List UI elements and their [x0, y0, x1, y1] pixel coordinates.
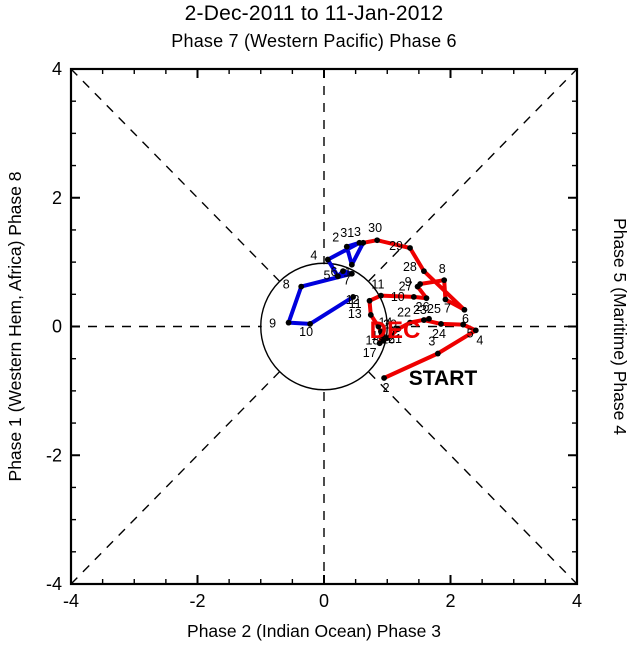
data-point — [374, 237, 380, 243]
x-tick-label: 2 — [445, 591, 455, 611]
data-point — [407, 245, 413, 251]
day-label: 7 — [444, 301, 451, 315]
data-point — [367, 298, 373, 304]
plot-canvas: -4-2024-4-2024 2345242325222120191817161… — [0, 0, 628, 653]
data-point — [286, 320, 292, 326]
day-label: 26 — [416, 300, 430, 314]
data-point — [417, 281, 423, 287]
data-point — [378, 293, 384, 299]
x-tick-label: 0 — [319, 591, 329, 611]
day-label: 3 — [354, 225, 361, 239]
day-label: 4 — [476, 333, 483, 347]
day-label: 24 — [432, 327, 446, 341]
day-label: 10 — [299, 325, 313, 339]
day-label: 8 — [439, 262, 446, 276]
data-point — [421, 317, 427, 323]
data-point — [426, 316, 432, 322]
y-tick-label: 0 — [52, 317, 62, 337]
x-tick-label: -4 — [63, 591, 79, 611]
mjo-phase-diagram: 2-Dec-2011 to 11-Jan-2012 Phase 7 (Weste… — [0, 0, 628, 653]
data-point — [357, 240, 363, 246]
day-label: 7 — [343, 274, 350, 288]
guide-lines — [71, 69, 577, 584]
data-point — [411, 294, 417, 300]
day-label: 5 — [467, 327, 474, 341]
y-tick-label: 2 — [52, 188, 62, 208]
day-label: 29 — [389, 239, 403, 253]
data-point — [435, 351, 441, 357]
day-label: 8 — [283, 278, 290, 292]
data-point — [344, 244, 350, 250]
data-point — [298, 284, 304, 290]
day-label: 4 — [310, 249, 317, 263]
day-label: 31 — [340, 226, 354, 240]
y-tick-label: 4 — [52, 59, 62, 79]
y-axis-label-right: Phase 5 (Maritime) Phase 4 — [610, 218, 628, 435]
day-label: 6 — [330, 265, 337, 279]
day-label: 9 — [269, 317, 276, 331]
day-label: 2 — [332, 231, 339, 245]
data-point — [325, 257, 331, 263]
x-tick-label: 4 — [572, 591, 582, 611]
day-label: 9 — [405, 275, 412, 289]
y-tick-label: -4 — [46, 574, 62, 594]
day-label: 30 — [368, 221, 382, 235]
x-tick-label: -2 — [189, 591, 205, 611]
data-point — [441, 277, 447, 283]
day-label: 11 — [371, 278, 384, 292]
day-label: 28 — [403, 260, 417, 274]
day-label: 2 — [383, 381, 390, 395]
day-label: 5 — [323, 268, 330, 282]
day-label: 17 — [363, 346, 377, 360]
y-tick-label: -2 — [46, 445, 62, 465]
start-label: START — [409, 367, 478, 390]
day-label: 11 — [349, 297, 362, 311]
day-label: 6 — [462, 312, 469, 326]
data-point — [421, 268, 427, 274]
y-axis-label-left: Phase 1 (Western Hem, Africa) Phase 8 — [5, 172, 25, 482]
month-label: DEC — [370, 317, 421, 344]
